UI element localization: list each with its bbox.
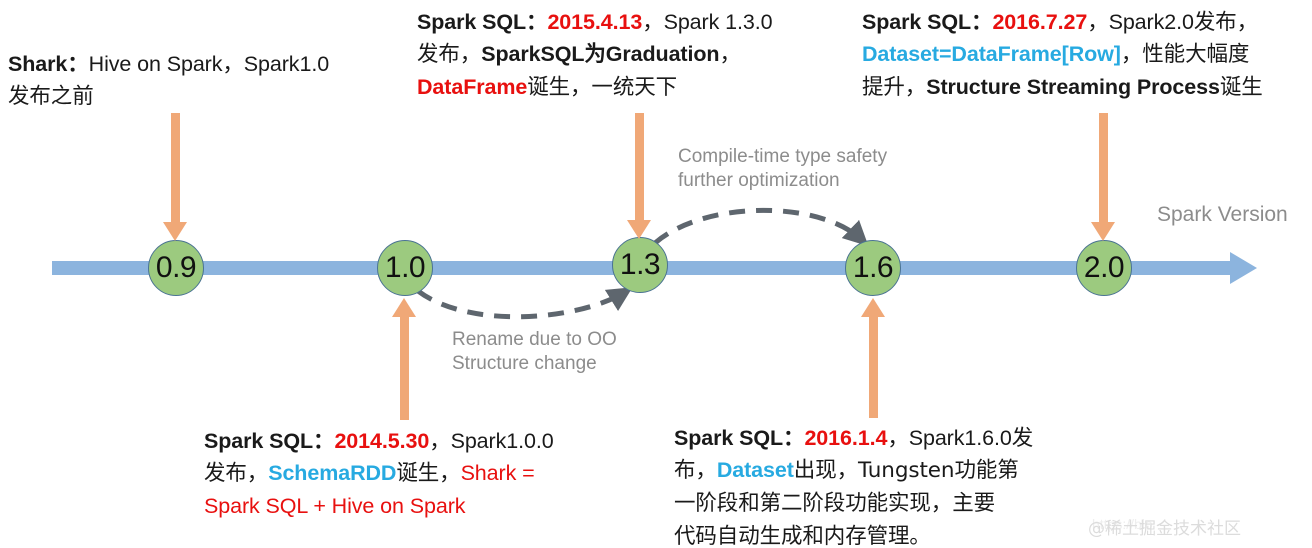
annotation-compile-time: Compile-time type safety further optimiz… [678, 145, 938, 193]
pointer-arrow-note-to-1-0 [392, 298, 417, 420]
version-node-0-9[interactable]: 0.9 [148, 240, 204, 296]
note-shark: Shark：Hive on Spark，Spark1.0发布之前 [8, 48, 408, 113]
note-spark-1-6-line3: 一阶段和第二阶段功能实现，主要 [674, 491, 995, 516]
note-spark-1-6-line2-pre: 布， [674, 458, 717, 483]
note-spark-2-0-line2-rest: ，性能大幅度 [1121, 42, 1249, 67]
note-spark-2-0-line3-bold: Structure Streaming Process [926, 75, 1220, 99]
note-shark-line2: 发布之前 [8, 84, 94, 109]
note-spark-1-0-line2-blue: SchemaRDD [268, 461, 396, 485]
pointer-arrow-note-to-1-3 [627, 113, 652, 239]
note-spark-2-0-line3-post: 诞生 [1220, 75, 1263, 100]
note-spark-1-0-title: Spark SQL： [204, 429, 334, 453]
note-spark-1-6-after-date: ，Spark1.6.0发 [887, 426, 1033, 450]
timeline-diagram: Shark：Hive on Spark，Spark1.0发布之前 Spark S… [0, 0, 1312, 548]
note-spark-2-0-after-date: ，Spark2.0发布， [1087, 10, 1258, 34]
note-spark-2-0: Spark SQL：2016.7.27，Spark2.0发布，Dataset=D… [862, 6, 1312, 104]
note-spark-1-0-line2-red: Shark = [461, 461, 535, 485]
note-spark-1-3-title: Spark SQL： [417, 10, 547, 34]
version-node-2-0[interactable]: 2.0 [1076, 240, 1132, 296]
note-spark-1-3: Spark SQL：2015.4.13，Spark 1.3.0发布，SparkS… [417, 6, 847, 104]
note-spark-1-6: Spark SQL：2016.1.4，Spark1.6.0发布，Dataset出… [674, 422, 1104, 548]
note-shark-title: Shark： [8, 52, 89, 76]
version-node-1-3[interactable]: 1.3 [612, 237, 668, 293]
annotation-rename: Rename due to OO Structure change [452, 328, 682, 376]
arc-rename-1-0-to-1-3 [418, 291, 625, 317]
watermark-text: @稀土掘金技术社区 [1088, 514, 1241, 539]
note-spark-2-0-line3-pre: 提升， [862, 75, 926, 100]
note-spark-1-3-date: 2015.4.13 [547, 10, 642, 34]
pointer-arrow-note-to-2-0 [1091, 113, 1116, 241]
note-spark-2-0-title: Spark SQL： [862, 10, 992, 34]
note-spark-1-3-line3-rest: 诞生，一统天下 [527, 75, 677, 100]
note-spark-1-0-after-date: ，Spark1.0.0 [429, 429, 553, 453]
note-spark-1-3-line3-red: DataFrame [417, 75, 527, 99]
note-spark-1-3-line2-bold: SparkSQL为Graduation [481, 42, 719, 66]
arc-compile-time-1-3-to-1-6 [655, 210, 862, 243]
note-spark-1-0: Spark SQL：2014.5.30，Spark1.0.0发布，SchemaR… [204, 425, 624, 522]
note-spark-1-6-line2-blue: Dataset [717, 458, 794, 482]
pointer-arrow-note-to-1-6 [861, 298, 886, 418]
note-spark-1-6-line4: 代码自动生成和内存管理。 [674, 524, 931, 548]
version-node-1-0[interactable]: 1.0 [377, 240, 433, 296]
note-spark-2-0-line2-blue: Dataset=DataFrame[Row] [862, 42, 1121, 66]
note-spark-1-0-line2-mid: 诞生， [396, 461, 460, 486]
note-spark-2-0-date: 2016.7.27 [992, 10, 1087, 34]
note-spark-1-0-line2-pre: 发布， [204, 461, 268, 486]
note-spark-1-3-line2-post: ， [719, 42, 740, 66]
note-spark-1-6-line2-rest: 出现，Tungsten功能第 [794, 458, 1019, 483]
timeline-arrow-icon [1230, 252, 1257, 284]
note-shark-line1: Hive on Spark，Spark1.0 [89, 52, 329, 76]
axis-label: Spark Version [1157, 203, 1288, 227]
note-spark-1-3-line2-pre: 发布， [417, 42, 481, 67]
note-spark-1-6-title: Spark SQL： [674, 426, 804, 450]
pointer-arrow-shark-to-0-9 [163, 113, 188, 241]
note-spark-1-6-date: 2016.1.4 [804, 426, 887, 450]
note-spark-1-0-line3-red: Spark SQL + Hive on Spark [204, 494, 465, 518]
note-spark-1-3-after-date: ，Spark 1.3.0 [642, 10, 772, 34]
version-node-1-6[interactable]: 1.6 [845, 240, 901, 296]
note-spark-1-0-date: 2014.5.30 [334, 429, 429, 453]
